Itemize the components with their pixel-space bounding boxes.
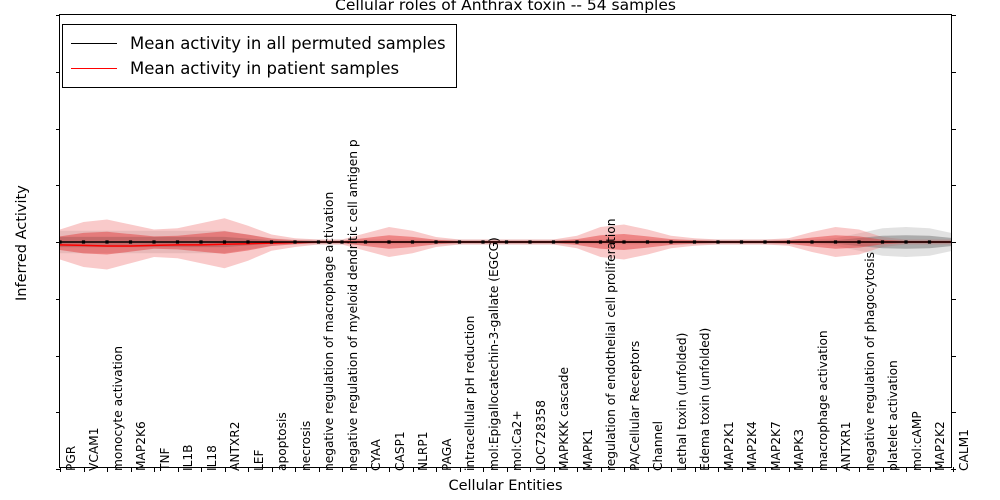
x-tick-mark <box>483 467 484 472</box>
x-tick-mark <box>366 467 367 472</box>
x-tick-label: monocyte activation <box>111 346 125 471</box>
permuted-mean-marker <box>411 240 414 243</box>
x-tick-label: PA/Cellular Receptors <box>628 341 642 471</box>
y-tick-mark-right <box>951 242 956 243</box>
x-tick-mark <box>530 467 531 472</box>
x-tick-label: platelet activation <box>886 360 900 471</box>
x-tick-label: MAP2K1 <box>722 421 736 471</box>
permuted-mean-marker <box>481 240 484 243</box>
x-tick-label: Lethal toxin (unfolded) <box>675 333 689 471</box>
legend-label-patient: Mean activity in patient samples <box>130 59 399 78</box>
x-tick-mark <box>812 467 813 472</box>
permuted-mean-marker <box>622 240 625 243</box>
x-tick-label: apoptosis <box>275 412 289 471</box>
x-tick-label: IL18 <box>205 445 219 471</box>
permuted-mean-marker <box>834 240 837 243</box>
permuted-mean-marker <box>904 240 907 243</box>
x-tick-mark <box>60 467 61 472</box>
x-axis-label: Cellular Entities <box>59 478 952 494</box>
chart-title: Cellular roles of Anthrax toxin -- 54 sa… <box>59 0 952 14</box>
x-tick-label: necrosis <box>299 421 313 471</box>
x-tick-mark <box>295 467 296 472</box>
x-tick-mark <box>883 467 884 472</box>
y-tick-mark-right <box>951 15 956 16</box>
x-tick-label: regulation of endothelial cell prolifera… <box>604 219 618 471</box>
permuted-mean-marker <box>716 240 719 243</box>
permuted-mean-marker <box>857 240 860 243</box>
x-tick-mark <box>765 467 766 472</box>
y-tick-mark-right <box>951 356 956 357</box>
permuted-mean-marker <box>669 240 672 243</box>
x-tick-label: negative regulation of myeloid dendritic… <box>346 139 360 471</box>
x-tick-mark <box>201 467 202 472</box>
x-tick-mark <box>554 467 555 472</box>
permuted-mean-marker <box>505 240 508 243</box>
x-tick-mark <box>742 467 743 472</box>
permuted-mean-marker <box>152 240 155 243</box>
x-tick-label: CASP1 <box>393 431 407 471</box>
x-tick-mark <box>648 467 649 472</box>
permuted-mean-marker <box>387 240 390 243</box>
x-tick-label: MAP2K7 <box>769 421 783 471</box>
permuted-mean-marker <box>317 240 320 243</box>
x-tick-label: Edema toxin (unfolded) <box>698 328 712 471</box>
x-tick-mark <box>930 467 931 472</box>
permuted-mean-marker <box>60 240 62 243</box>
y-tick-mark-right <box>951 185 956 186</box>
y-tick-mark <box>56 299 61 300</box>
y-tick-mark <box>56 356 61 357</box>
x-tick-mark <box>624 467 625 472</box>
permuted-mean-marker <box>810 240 813 243</box>
permuted-mean-marker <box>575 240 578 243</box>
legend-swatch-permuted <box>71 43 117 44</box>
x-tick-label: negative regulation of macrophage activa… <box>322 192 336 471</box>
permuted-mean-marker <box>270 240 273 243</box>
x-tick-mark <box>342 467 343 472</box>
y-tick-mark-right <box>951 299 956 300</box>
y-tick-mark-right <box>951 129 956 130</box>
x-tick-label: MAP2K6 <box>134 421 148 471</box>
x-tick-mark <box>84 467 85 472</box>
permuted-mean-marker <box>928 240 931 243</box>
x-tick-label: MAP2K4 <box>745 421 759 471</box>
permuted-mean-marker <box>293 240 296 243</box>
permuted-mean-marker <box>82 240 85 243</box>
x-tick-label: VCAM1 <box>87 428 101 471</box>
permuted-mean-marker <box>246 240 249 243</box>
permuted-mean-marker <box>176 240 179 243</box>
x-tick-label: ANTXR1 <box>839 422 853 471</box>
x-tick-mark <box>178 467 179 472</box>
y-tick-mark <box>56 242 61 243</box>
permuted-mean-marker <box>105 240 108 243</box>
x-tick-mark <box>272 467 273 472</box>
x-tick-mark <box>248 467 249 472</box>
x-tick-label: CYAA <box>369 439 383 471</box>
permuted-mean-marker <box>693 240 696 243</box>
x-tick-label: TNF <box>158 447 172 471</box>
x-tick-label: NLRP1 <box>416 432 430 471</box>
y-tick-mark <box>56 129 61 130</box>
x-tick-label: negative regulation of phagocytosis <box>863 252 877 471</box>
y-tick-mark <box>56 185 61 186</box>
x-tick-mark <box>154 467 155 472</box>
x-tick-mark <box>107 467 108 472</box>
permuted-mean-marker <box>763 240 766 243</box>
x-tick-label: LEF <box>252 449 266 471</box>
chart-legend: Mean activity in all permuted samples Me… <box>62 24 457 88</box>
x-tick-mark <box>577 467 578 472</box>
x-tick-mark <box>319 467 320 472</box>
x-tick-label: macrophage activation <box>816 330 830 471</box>
x-tick-label: intracellular pH reduction <box>463 316 477 471</box>
x-tick-mark <box>671 467 672 472</box>
permuted-mean-marker <box>646 240 649 243</box>
permuted-mean-marker <box>434 240 437 243</box>
x-tick-mark <box>836 467 837 472</box>
y-tick-mark-right <box>951 72 956 73</box>
x-tick-mark <box>436 467 437 472</box>
y-tick-mark <box>56 15 61 16</box>
x-tick-mark <box>953 467 954 472</box>
x-tick-label: CALM1 <box>957 429 971 471</box>
x-tick-mark <box>718 467 719 472</box>
y-tick-mark <box>56 412 61 413</box>
permuted-mean-marker <box>129 240 132 243</box>
permuted-mean-marker <box>881 240 884 243</box>
legend-label-permuted: Mean activity in all permuted samples <box>130 34 446 53</box>
permuted-mean-marker <box>552 240 555 243</box>
x-tick-mark <box>131 467 132 472</box>
x-tick-mark <box>859 467 860 472</box>
permuted-mean-marker <box>223 240 226 243</box>
x-tick-label: MAPK3 <box>792 429 806 471</box>
x-tick-label: PAGA <box>440 439 454 471</box>
permuted-mean-marker <box>787 240 790 243</box>
permuted-mean-marker <box>340 240 343 243</box>
legend-item-permuted: Mean activity in all permuted samples <box>71 31 446 56</box>
x-tick-label: IL1B <box>181 445 195 472</box>
permuted-mean-marker <box>458 240 461 243</box>
x-tick-label: PGR <box>64 446 78 471</box>
permuted-mean-marker <box>528 240 531 243</box>
permuted-mean-marker <box>199 240 202 243</box>
x-tick-label: Channel <box>651 421 665 471</box>
x-tick-label: LOC728358 <box>534 400 548 471</box>
x-tick-label: MAP2K2 <box>933 421 947 471</box>
x-tick-mark <box>460 467 461 472</box>
y-tick-mark-right <box>951 412 956 413</box>
x-tick-mark <box>601 467 602 472</box>
figure: Cellular roles of Anthrax toxin -- 54 sa… <box>0 0 1000 500</box>
x-tick-mark <box>789 467 790 472</box>
permuted-mean-marker <box>599 240 602 243</box>
x-tick-mark <box>695 467 696 472</box>
x-tick-label: mol:Ca2+ <box>510 410 524 471</box>
x-tick-label: mol:cAMP <box>910 411 924 471</box>
y-tick-mark <box>56 72 61 73</box>
x-tick-mark <box>389 467 390 472</box>
x-tick-mark <box>225 467 226 472</box>
y-axis-label: Inferred Activity <box>14 185 30 301</box>
x-tick-label: MAPK1 <box>581 429 595 471</box>
x-tick-mark <box>906 467 907 472</box>
legend-item-patient: Mean activity in patient samples <box>71 56 446 81</box>
x-tick-label: mol:Epigallocatechin-3-gallate (EGCG) <box>487 237 501 471</box>
legend-swatch-patient <box>71 68 117 69</box>
x-tick-mark <box>413 467 414 472</box>
x-tick-mark <box>507 467 508 472</box>
permuted-mean-marker <box>740 240 743 243</box>
permuted-mean-marker <box>364 240 367 243</box>
x-tick-label: MAPKKK cascade <box>557 367 571 471</box>
x-tick-label: ANTXR2 <box>228 422 242 471</box>
